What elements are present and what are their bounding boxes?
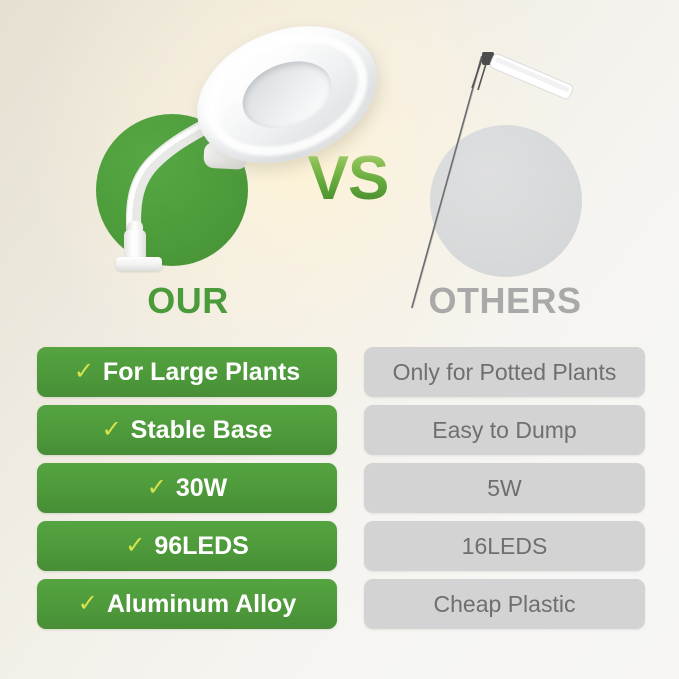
our-feature-pill: ✓ 96LEDS (37, 521, 337, 571)
others-feature-pill: Cheap Plastic (364, 579, 645, 629)
our-feature-label: Stable Base (131, 416, 273, 445)
comparison-row: ✓ 30W 5W (0, 463, 679, 513)
others-feature-label: Only for Potted Plants (393, 359, 617, 386)
others-feature-pill: 16LEDS (364, 521, 645, 571)
comparison-row: ✓ Stable Base Easy to Dump (0, 405, 679, 455)
our-feature-pill: ✓ 30W (37, 463, 337, 513)
vs-label: VS (296, 148, 400, 210)
check-icon: ✓ (102, 418, 122, 442)
hero-product-area: VS OUR OTHERS (0, 0, 679, 336)
column-heading-others: OTHERS (395, 283, 615, 319)
others-feature-label: 16LEDS (462, 533, 548, 560)
comparison-rows: ✓ For Large Plants Only for Potted Plant… (0, 347, 679, 637)
others-feature-pill: 5W (364, 463, 645, 513)
check-icon: ✓ (125, 534, 145, 558)
our-feature-label: 96LEDS (154, 532, 248, 561)
others-feature-label: 5W (487, 475, 522, 502)
check-icon: ✓ (74, 360, 94, 384)
others-feature-pill: Easy to Dump (364, 405, 645, 455)
our-feature-label: 30W (176, 474, 227, 503)
our-feature-label: For Large Plants (103, 358, 300, 387)
others-feature-label: Cheap Plastic (434, 591, 576, 618)
comparison-infographic: VS OUR OTHERS ✓ For Large Plants Only fo… (0, 0, 679, 679)
comparison-row: ✓ Aluminum Alloy Cheap Plastic (0, 579, 679, 629)
our-feature-label: Aluminum Alloy (107, 590, 296, 619)
lamp-base-plate (116, 257, 162, 271)
check-icon: ✓ (147, 476, 167, 500)
others-feature-pill: Only for Potted Plants (364, 347, 645, 397)
our-feature-pill: ✓ Stable Base (37, 405, 337, 455)
column-heading-ours: OUR (88, 283, 288, 319)
our-feature-pill: ✓ For Large Plants (37, 347, 337, 397)
others-feature-label: Easy to Dump (432, 417, 576, 444)
comparison-row: ✓ For Large Plants Only for Potted Plant… (0, 347, 679, 397)
check-icon: ✓ (78, 592, 98, 616)
our-feature-pill: ✓ Aluminum Alloy (37, 579, 337, 629)
comparison-row: ✓ 96LEDS 16LEDS (0, 521, 679, 571)
others-product-image (400, 20, 630, 320)
